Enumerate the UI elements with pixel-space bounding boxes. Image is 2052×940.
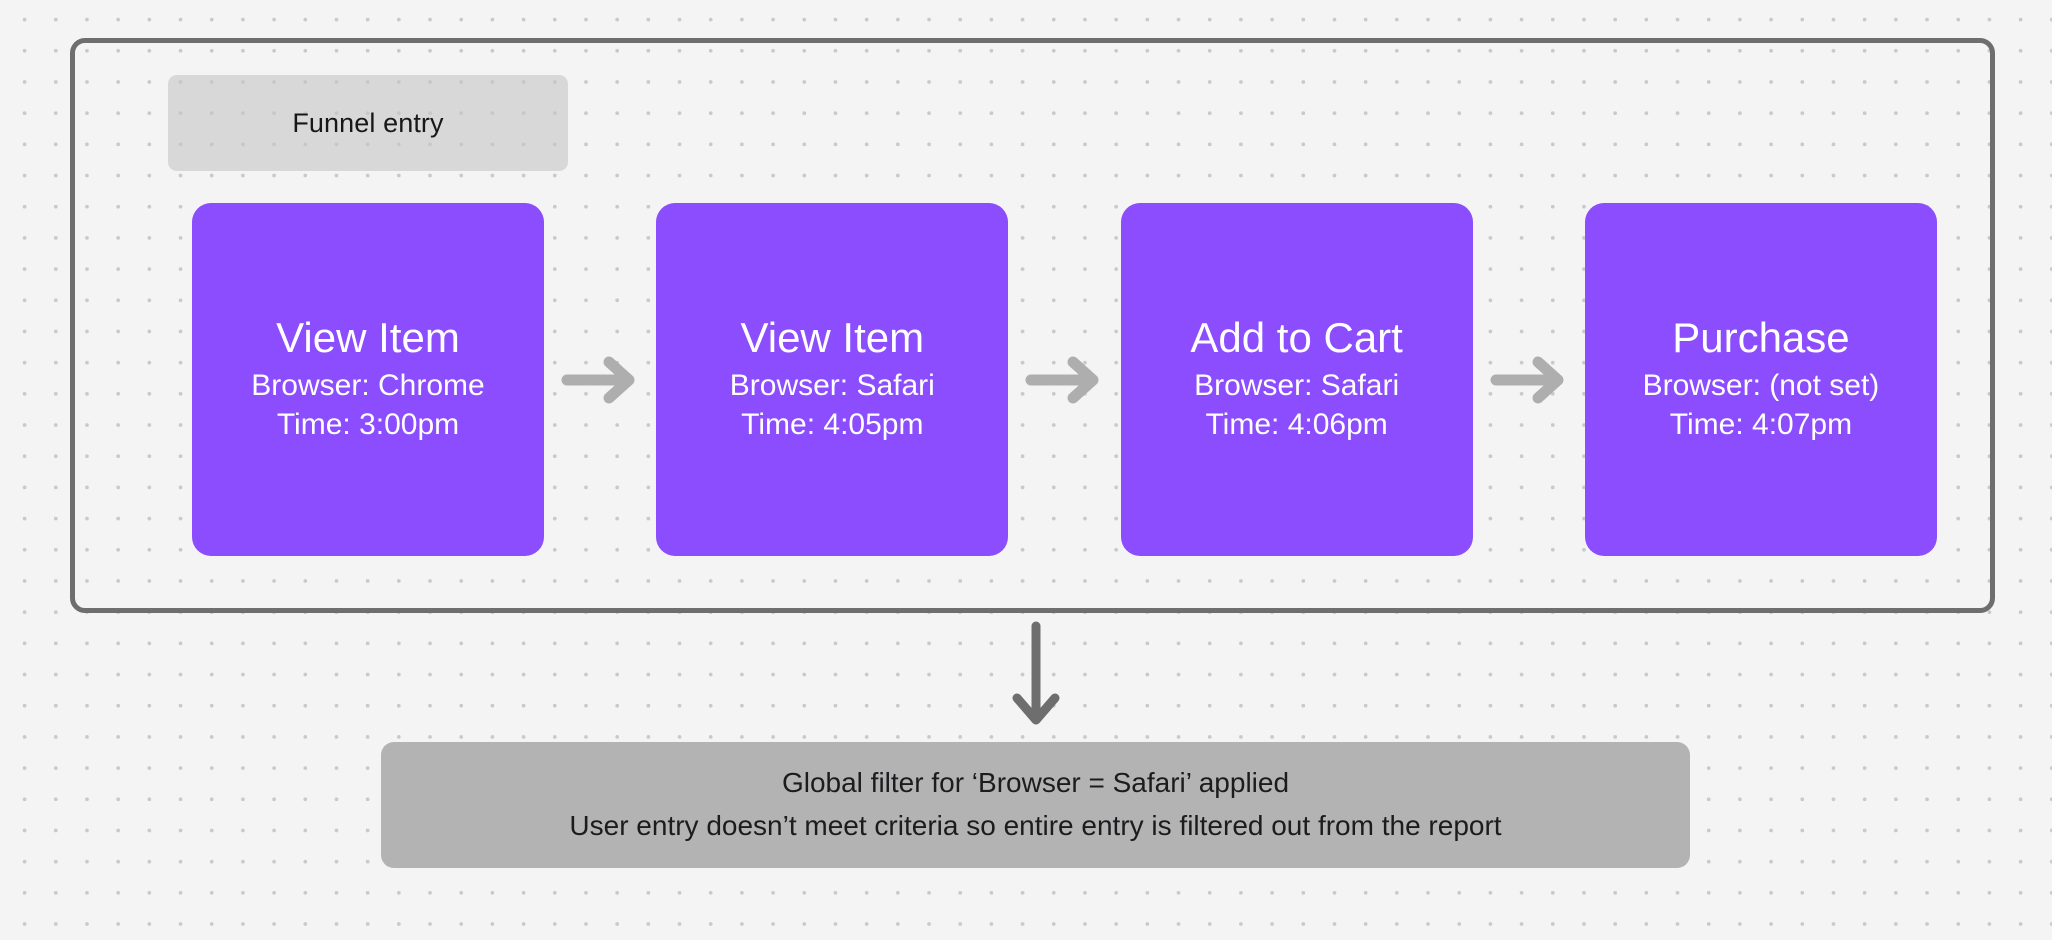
step-title: View Item: [276, 315, 460, 360]
funnel-step-card-3[interactable]: Add to Cart Browser: Safari Time: 4:06pm: [1121, 203, 1473, 556]
funnel-entry-label: Funnel entry: [292, 110, 443, 137]
step-time: Time: 4:06pm: [1205, 405, 1387, 444]
step-time: Time: 4:05pm: [741, 405, 923, 444]
step-browser: Browser: (not set): [1643, 366, 1880, 405]
step-arrow-right-icon-1: [556, 352, 644, 408]
step-arrow-right-icon-3: [1485, 352, 1573, 408]
step-browser: Browser: Safari: [730, 366, 935, 405]
funnel-step-card-2[interactable]: View Item Browser: Safari Time: 4:05pm: [656, 203, 1008, 556]
step-title: View Item: [740, 315, 924, 360]
funnel-entry-container: Funnel entry View Item Browser: Chrome T…: [70, 38, 1995, 613]
filter-note-line-2: User entry doesn’t meet criteria so enti…: [569, 805, 1501, 848]
funnel-steps-row: View Item Browser: Chrome Time: 3:00pm V…: [192, 203, 1937, 556]
step-title: Add to Cart: [1190, 315, 1402, 360]
step-title: Purchase: [1672, 315, 1849, 360]
flow-arrow-down-icon: [1010, 620, 1062, 730]
step-time: Time: 4:07pm: [1670, 405, 1852, 444]
funnel-entry-chip: Funnel entry: [168, 75, 568, 171]
step-arrow-right-icon-2: [1020, 352, 1108, 408]
filter-note-line-1: Global filter for ‘Browser = Safari’ app…: [782, 762, 1289, 805]
global-filter-note: Global filter for ‘Browser = Safari’ app…: [381, 742, 1690, 868]
diagram-canvas: Funnel entry View Item Browser: Chrome T…: [0, 0, 2052, 940]
step-browser: Browser: Chrome: [251, 366, 484, 405]
funnel-step-card-1[interactable]: View Item Browser: Chrome Time: 3:00pm: [192, 203, 544, 556]
step-browser: Browser: Safari: [1194, 366, 1399, 405]
step-time: Time: 3:00pm: [277, 405, 459, 444]
funnel-step-card-4[interactable]: Purchase Browser: (not set) Time: 4:07pm: [1585, 203, 1937, 556]
